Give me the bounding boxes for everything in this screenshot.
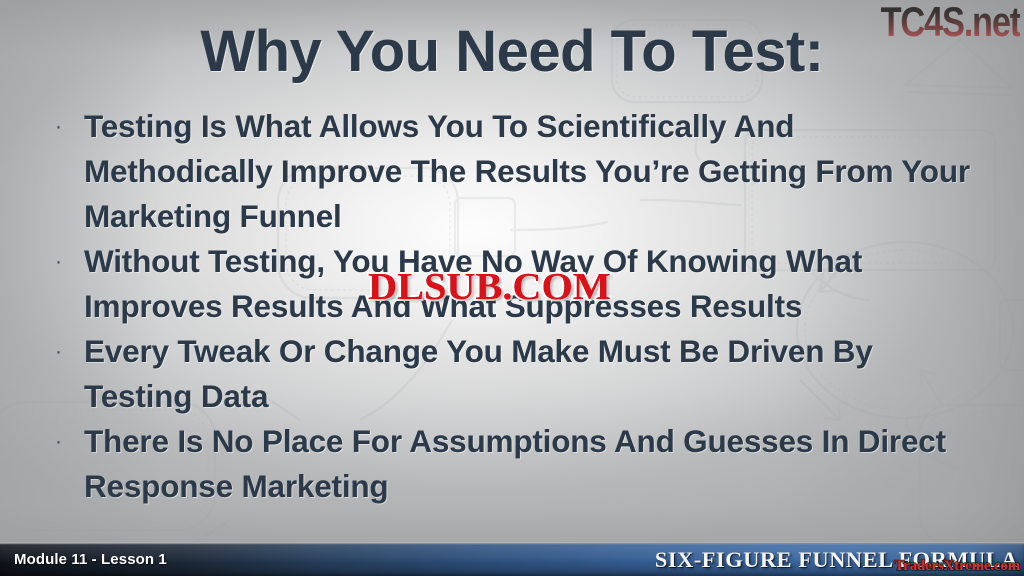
dlsub-watermark: DLSUB.COM: [368, 265, 611, 309]
slide-title: Why You Need To Test:: [0, 22, 1024, 83]
bullet-dot-icon: ·: [46, 104, 84, 149]
bullet-dot-icon: ·: [46, 419, 84, 464]
list-item: · There Is No Place For Assumptions And …: [46, 419, 986, 509]
list-item: · Testing Is What Allows You To Scientif…: [46, 104, 986, 239]
bullet-text: Testing Is What Allows You To Scientific…: [84, 104, 986, 239]
lesson-label: Module 11 - Lesson 1: [14, 551, 167, 568]
slide-canvas: Why You Need To Test: TC4S.net TC4S.net …: [0, 0, 1024, 576]
list-item: · Every Tweak Or Change You Make Must Be…: [46, 329, 986, 419]
tradersxtreme-watermark: TradersXtreme.com: [894, 558, 1020, 575]
bullet-text: Every Tweak Or Change You Make Must Be D…: [84, 329, 986, 419]
footer-bar: Module 11 - Lesson 1 SIX-FIGURE FUNNEL F…: [0, 544, 1024, 576]
bullet-text: There Is No Place For Assumptions And Gu…: [84, 419, 986, 509]
bullet-dot-icon: ·: [46, 329, 84, 374]
tc4s-watermark: TC4S.net: [881, 0, 1020, 46]
bullet-dot-icon: ·: [46, 239, 84, 284]
